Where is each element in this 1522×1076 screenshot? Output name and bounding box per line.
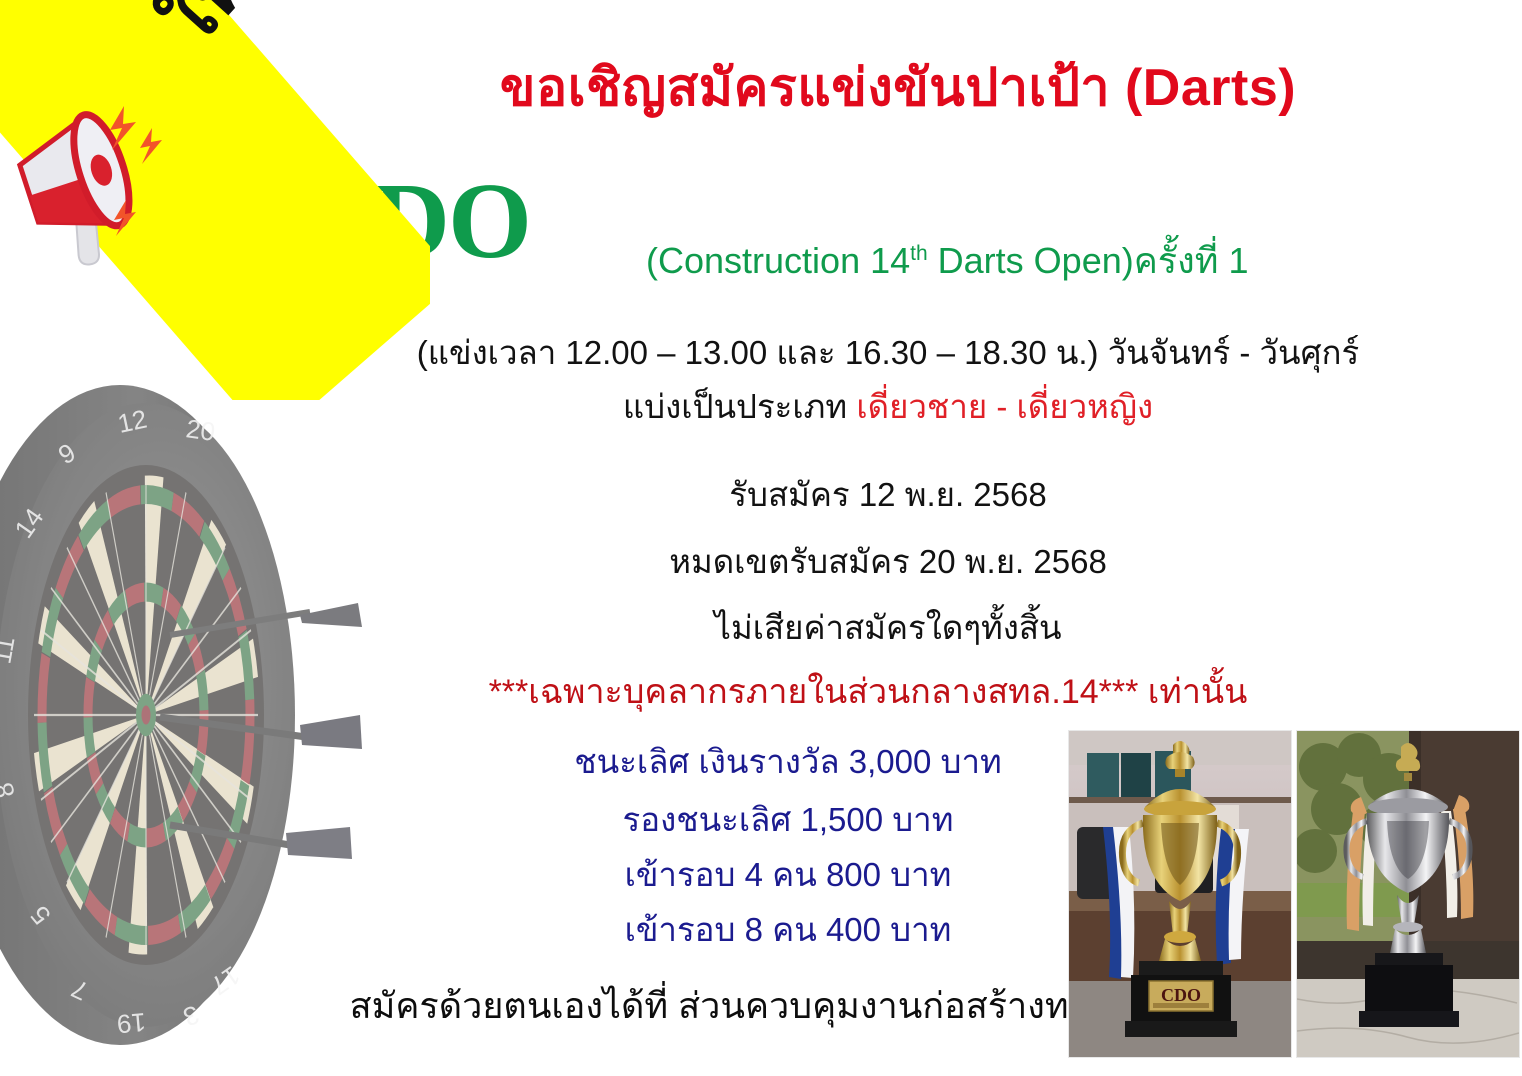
silver-trophy-photo <box>1296 730 1520 1058</box>
cdo-logo: CDO <box>296 168 530 276</box>
schedule-line: (แข่งเวลา 12.00 – 13.00 และ 16.30 – 18.3… <box>388 336 1388 369</box>
megaphone-icon <box>6 78 186 268</box>
trophy-photo-group: CDO <box>1068 730 1520 1058</box>
apply-location-line: สมัครด้วยตนเองได้ที่ ส่วนควบคุมงานก่อสร้… <box>278 988 1178 1024</box>
category-highlight: เดี่ยวชาย - เดี่ยวหญิง <box>856 388 1153 425</box>
fee-note-line: ไม่เสียค่าสมัครใดๆทั้งสิ้น <box>388 611 1388 644</box>
cdo-subtitle-ordinal: th <box>910 242 928 265</box>
cdo-subtitle: (Construction 14th Darts Open)ครั้งที่ 1 <box>646 243 1248 279</box>
cdo-subtitle-suffix: Darts Open)ครั้งที่ 1 <box>928 240 1249 281</box>
svg-text:20: 20 <box>184 413 217 447</box>
page-title: ขอเชิญสมัครแข่งขันปาเป้า (Darts) <box>398 62 1398 114</box>
restriction-line: ***เฉพาะบุคลากรภายในส่วนกลางสทล.14*** เท… <box>368 675 1368 709</box>
gold-trophy-photo: CDO <box>1068 730 1292 1058</box>
svg-text:12: 12 <box>115 404 150 439</box>
cdo-subtitle-prefix: (Construction 14 <box>646 240 910 281</box>
category-prefix: แบ่งเป็นประเภท <box>623 388 856 425</box>
category-line: แบ่งเป็นประเภท เดี่ยวชาย - เดี่ยวหญิง <box>388 390 1388 423</box>
open-date-line: รับสมัคร 12 พ.ย. 2568 <box>388 478 1388 511</box>
trophy-plaque-text: CDO <box>1161 985 1201 1005</box>
svg-text:19: 19 <box>116 1007 147 1039</box>
close-date-line: หมดเขตรับสมัคร 20 พ.ย. 2568 <box>388 545 1388 578</box>
